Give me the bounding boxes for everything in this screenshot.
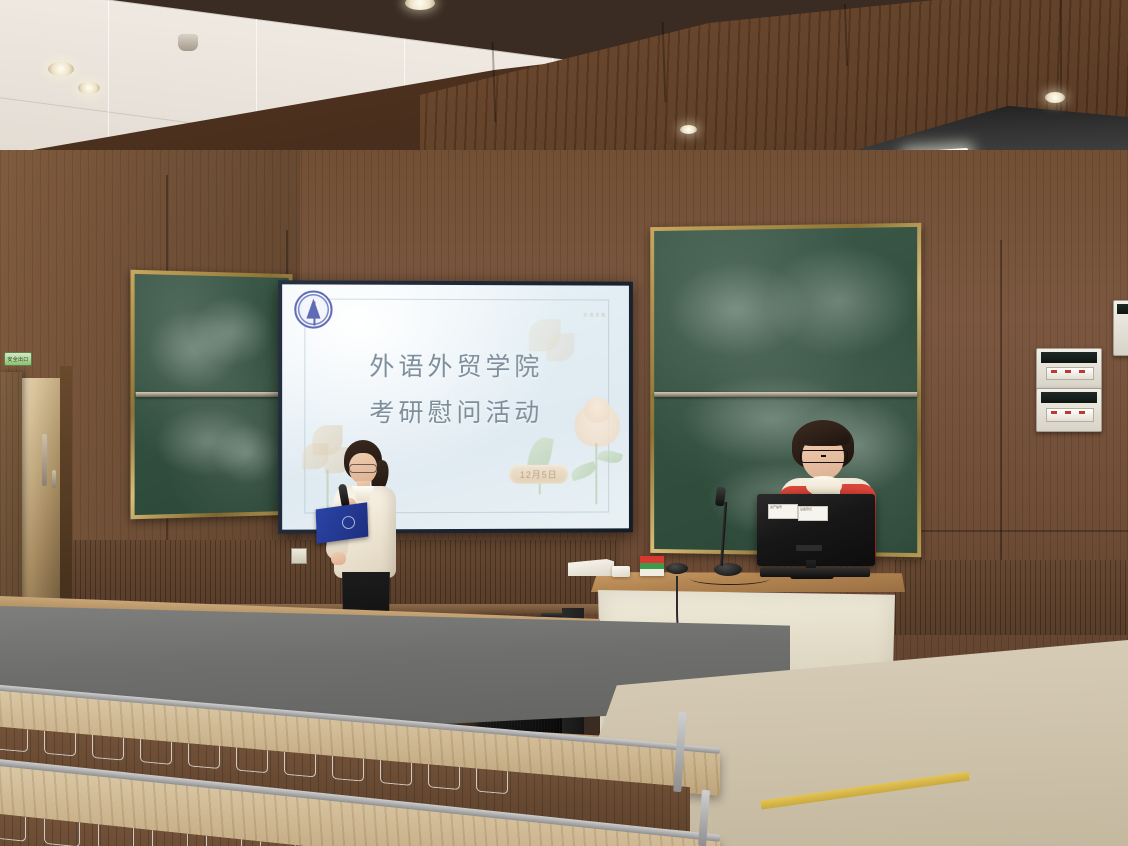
- university-seal-logo: [294, 290, 332, 328]
- desk-speaker-puck: [666, 563, 688, 574]
- breaker-lower-indicator-3: [1079, 411, 1085, 414]
- seal-sail-icon: [306, 299, 320, 319]
- door-frame: [60, 366, 72, 606]
- breaker-panel-right[interactable]: [1113, 300, 1128, 356]
- breaker-lower-window: [1041, 392, 1097, 403]
- monitor-asset-label-1: 资产编号: [768, 504, 798, 519]
- breaker-lower-indicator-2: [1065, 411, 1071, 414]
- door-handle[interactable]: [52, 470, 56, 488]
- ceiling-spot-light-2: [78, 82, 100, 94]
- slide-title-line-2: 考研慰问活动: [282, 393, 629, 429]
- ceiling-spot-light-3: [405, 0, 435, 10]
- breaker-upper-indicator-3: [1079, 370, 1085, 373]
- breaker-panel-upper[interactable]: [1036, 348, 1102, 390]
- wall-outlet[interactable]: [291, 548, 307, 564]
- colored-gift-box[interactable]: [640, 556, 664, 576]
- presenter-hand-left: [331, 552, 346, 565]
- monitor-asset-label-2: 设备登记: [798, 506, 828, 521]
- wall-wainscot-right: [895, 560, 1128, 635]
- slide-title-line-1: 外语外贸学院: [282, 347, 629, 383]
- exit-sign: 安全出口: [4, 352, 32, 366]
- wall-seam-4: [920, 530, 1128, 532]
- breaker-lower-indicator-1: [1051, 411, 1057, 414]
- slide-corner-mark: 外语学院: [583, 312, 607, 318]
- operator-glasses-bridge: [821, 455, 826, 457]
- presenter-glasses-icon: [349, 464, 377, 473]
- right-chalkboard-rail: [654, 392, 917, 397]
- operator-collar: [806, 476, 842, 496]
- wall-seam-3: [1000, 240, 1002, 610]
- exit-sign-label: 安全出口: [7, 356, 28, 363]
- breaker-upper-switch-row[interactable]: [1046, 367, 1094, 380]
- ceiling-spot-light-1: [48, 62, 74, 76]
- door-leaf[interactable]: [0, 372, 22, 604]
- breaker-upper-window: [1041, 352, 1097, 363]
- breaker-right-window: [1117, 304, 1128, 314]
- breaker-upper-indicator-1: [1051, 370, 1057, 373]
- operator-fringe: [796, 426, 850, 446]
- breaker-panel-lower[interactable]: [1036, 388, 1102, 432]
- ceiling-spot-light-5: [1045, 92, 1065, 103]
- monitor-brand-plate: [796, 545, 822, 551]
- door-push-bar[interactable]: [42, 434, 47, 486]
- slide-date-badge: 12月5日: [509, 465, 569, 484]
- left-chalkboard-rail: [136, 392, 286, 397]
- lecture-hall-photo: 安全出口 外语: [0, 0, 1128, 846]
- smoke-sensor-icon: [178, 34, 198, 51]
- breaker-upper-indicator-2: [1065, 370, 1071, 373]
- ceiling-spot-light-4: [680, 125, 697, 134]
- white-item-small[interactable]: [612, 566, 630, 577]
